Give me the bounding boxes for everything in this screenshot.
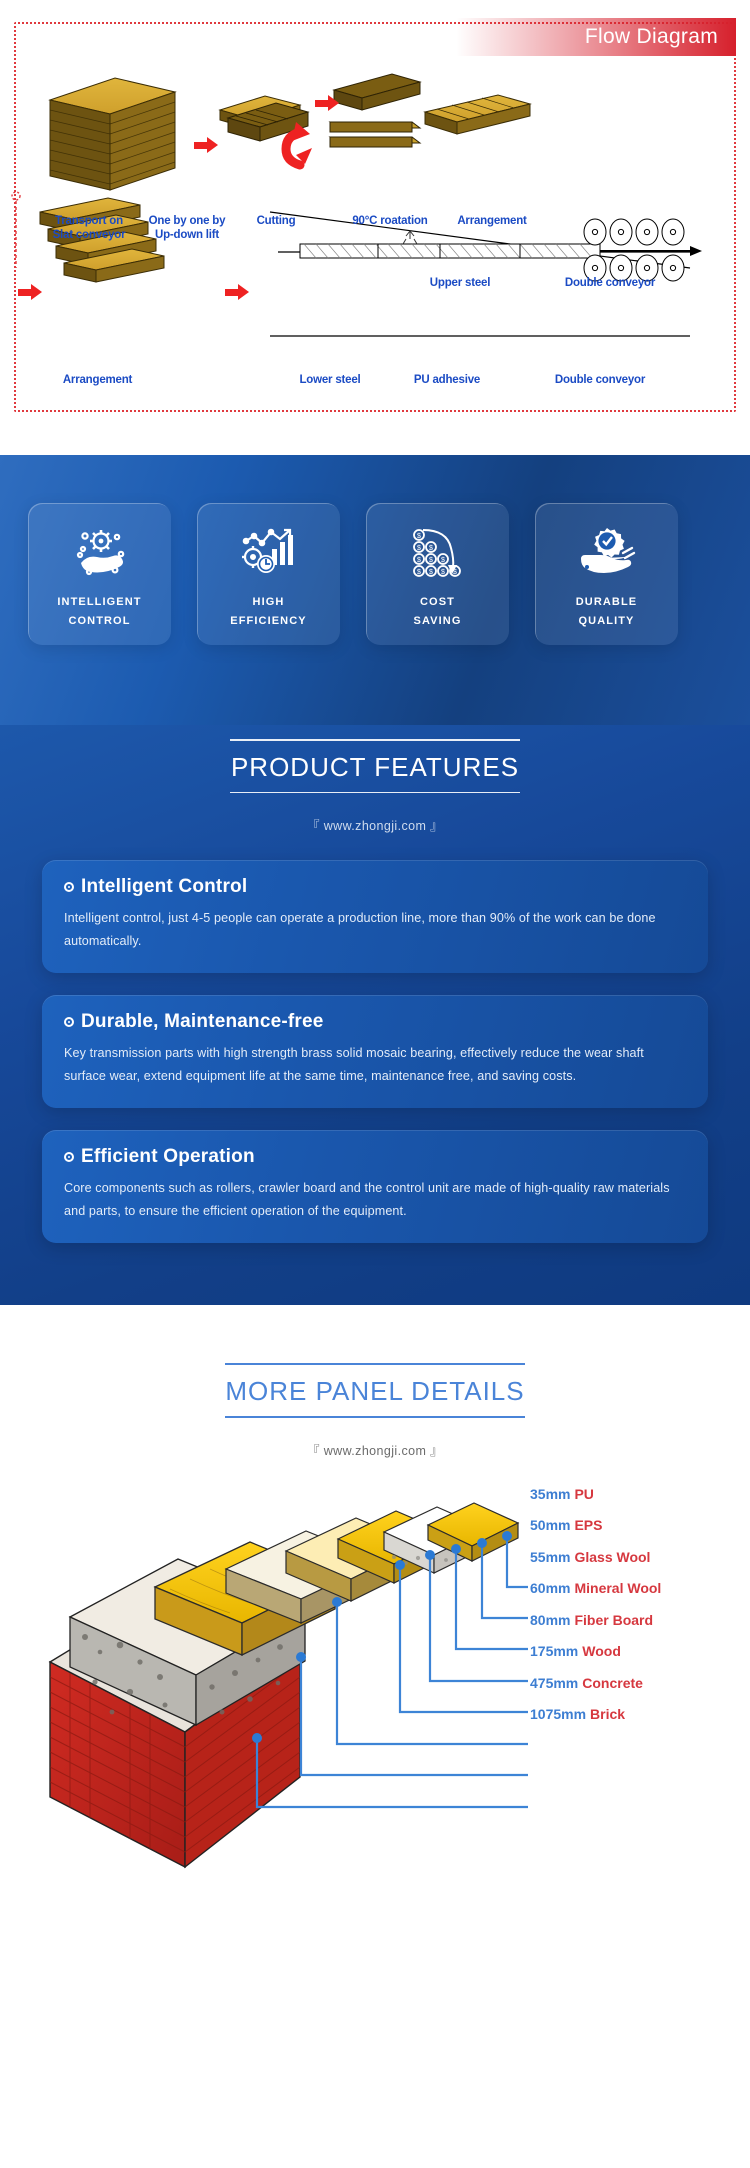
product-feature-card-efficient-operation[interactable]: Efficient Operation Core components such… — [42, 1130, 708, 1243]
panel-details-title: MORE PANEL DETAILS — [0, 1365, 750, 1416]
panel-layer-material: Wood — [582, 1643, 621, 1659]
feature-icon-caption-durable-quality: DURABLE QUALITY — [576, 593, 637, 631]
panel-layer-material: Fiber Board — [574, 1612, 653, 1628]
shield-check-hand-icon — [578, 525, 636, 579]
product-feature-body: Key transmission parts with high strengt… — [64, 1042, 686, 1088]
panel-layer-thickness: 475mm — [530, 1675, 578, 1691]
flow-diagram-graphics — [0, 0, 750, 420]
feature-icon-card-high-efficiency[interactable]: HIGH EFFICIENCY — [197, 503, 340, 645]
feature-icon-card-cost-saving[interactable]: $$$ $$$ $$$$ COST SAVING — [366, 503, 509, 645]
panel-layer-thickness: 175mm — [530, 1643, 578, 1659]
flow-label-lower-steel: Lower steel — [270, 373, 390, 387]
step-icon-rotation — [330, 74, 420, 147]
caption-line-1: HIGH — [230, 593, 306, 612]
flow-label-arrangement-1: Arrangement — [422, 214, 562, 228]
panel-layer-material: Concrete — [582, 1675, 643, 1691]
product-features-list: Intelligent Control Intelligent control,… — [0, 860, 750, 1243]
bullet-ring-icon — [64, 1152, 74, 1162]
product-feature-heading: Intelligent Control — [81, 876, 247, 898]
panel-layer-thickness: 35mm — [530, 1486, 570, 1502]
product-features-title: PRODUCT FEATURES — [0, 741, 750, 792]
heading-rule-bottom — [230, 792, 520, 794]
caption-line-1: DURABLE — [576, 593, 637, 612]
panel-layer-material: Brick — [590, 1706, 625, 1722]
panel-layer-label-mineral-wool: 60mm Mineral Wool — [530, 1573, 661, 1605]
caption-line-2: SAVING — [414, 612, 462, 631]
heading-rule-bottom — [225, 1416, 525, 1418]
feature-icon-caption-cost-saving: COST SAVING — [414, 593, 462, 631]
bullet-ring-icon — [64, 882, 74, 892]
flow-label-pu-adhesive: PU adhesive — [382, 373, 512, 387]
panel-layer-label-glass-wool: 55mm Glass Wool — [530, 1541, 661, 1573]
panel-layer-material: Glass Wool — [574, 1549, 650, 1565]
growth-chart-icon — [240, 525, 298, 579]
feature-icon-caption-intelligent-control: INTELLIGENT CONTROL — [57, 593, 141, 631]
panel-layer-material: Mineral Wool — [574, 1580, 661, 1596]
feature-icon-card-list: INTELLIGENT CONTROL — [28, 503, 678, 645]
product-features-heading-block: PRODUCT FEATURES 『 www.zhongji.com 』 — [0, 739, 750, 834]
flow-label-cutting: Cutting — [216, 214, 336, 228]
product-features-subtitle: 『 www.zhongji.com 』 — [0, 815, 750, 834]
caption-line-2: EFFICIENCY — [230, 612, 306, 631]
caption-line-1: INTELLIGENT — [57, 593, 141, 612]
panel-layer-label-wood: 175mm Wood — [530, 1636, 661, 1668]
product-feature-body: Intelligent control, just 4-5 people can… — [64, 907, 686, 953]
product-feature-heading-row: Durable, Maintenance-free — [64, 1011, 686, 1033]
gear-hand-icon — [71, 525, 129, 579]
flow-diagram-banner: Flow Diagram — [456, 18, 736, 56]
flow-diagram-section: Flow Diagram — [0, 0, 750, 455]
step-icon-arrangement — [425, 95, 530, 134]
caption-line-2: QUALITY — [576, 612, 637, 631]
flow-label-lift-line2: Up-down lift — [117, 228, 257, 242]
panel-layer-thickness: 1075mm — [530, 1706, 586, 1722]
flow-label-upper-steel: Upper steel — [390, 276, 530, 290]
product-feature-heading: Durable, Maintenance-free — [81, 1011, 324, 1033]
panel-layer-label-fiber-board: 80mm Fiber Board — [530, 1604, 661, 1636]
flow-diagram-title: Flow Diagram — [585, 25, 718, 49]
panel-layer-label-list: 35mm PU 50mm EPS 55mm Glass Wool 60mm Mi… — [530, 1478, 661, 1730]
bullet-ring-icon — [64, 1017, 74, 1027]
product-feature-body: Core components such as rollers, crawler… — [64, 1177, 686, 1223]
product-feature-heading: Efficient Operation — [81, 1146, 255, 1168]
caption-line-2: CONTROL — [57, 612, 141, 631]
flow-label-double-conveyor-top: Double conveyor — [525, 276, 695, 290]
panel-layer-thickness: 50mm — [530, 1517, 570, 1533]
product-feature-heading-row: Intelligent Control — [64, 876, 686, 898]
loop-marker-icon — [12, 192, 20, 200]
panel-layer-label-concrete: 475mm Concrete — [530, 1667, 661, 1699]
step-icon-stack — [50, 78, 175, 190]
product-features-section: PRODUCT FEATURES 『 www.zhongji.com 』 Int… — [0, 725, 750, 1305]
panel-layer-thickness: 55mm — [530, 1549, 570, 1565]
flow-label-double-conveyor-bottom: Double conveyor — [510, 373, 690, 387]
panel-layer-label-brick: 1075mm Brick — [530, 1699, 661, 1731]
product-feature-heading-row: Efficient Operation — [64, 1146, 686, 1168]
panel-layers-diagram: 35mm PU 50mm EPS 55mm Glass Wool 60mm Mi… — [0, 1477, 750, 2037]
panel-layer-thickness: 60mm — [530, 1580, 570, 1596]
feature-icons-strip: INTELLIGENT CONTROL — [0, 455, 750, 725]
panel-details-subtitle: 『 www.zhongji.com 』 — [0, 1440, 750, 1459]
caption-line-1: COST — [414, 593, 462, 612]
feature-icon-card-intelligent-control[interactable]: INTELLIGENT CONTROL — [28, 503, 171, 645]
feature-icon-caption-high-efficiency: HIGH EFFICIENCY — [230, 593, 306, 631]
product-feature-card-intelligent-control[interactable]: Intelligent Control Intelligent control,… — [42, 860, 708, 973]
product-feature-card-durable-maintenance-free[interactable]: Durable, Maintenance-free Key transmissi… — [42, 995, 708, 1108]
coins-stack-icon: $$$ $$$ $$$$ — [409, 525, 467, 579]
panel-layer-label-eps: 50mm EPS — [530, 1510, 661, 1542]
panel-details-section: MORE PANEL DETAILS 『 www.zhongji.com 』 — [0, 1305, 750, 2168]
flow-label-arrangement-2: Arrangement — [20, 373, 175, 387]
panel-layer-material: PU — [574, 1486, 593, 1502]
panel-details-heading-block: MORE PANEL DETAILS 『 www.zhongji.com 』 — [0, 1363, 750, 1459]
panel-layer-material: EPS — [574, 1517, 602, 1533]
panel-layer-thickness: 80mm — [530, 1612, 570, 1628]
feature-icon-card-durable-quality[interactable]: DURABLE QUALITY — [535, 503, 678, 645]
panel-layer-label-pu: 35mm PU — [530, 1478, 661, 1510]
